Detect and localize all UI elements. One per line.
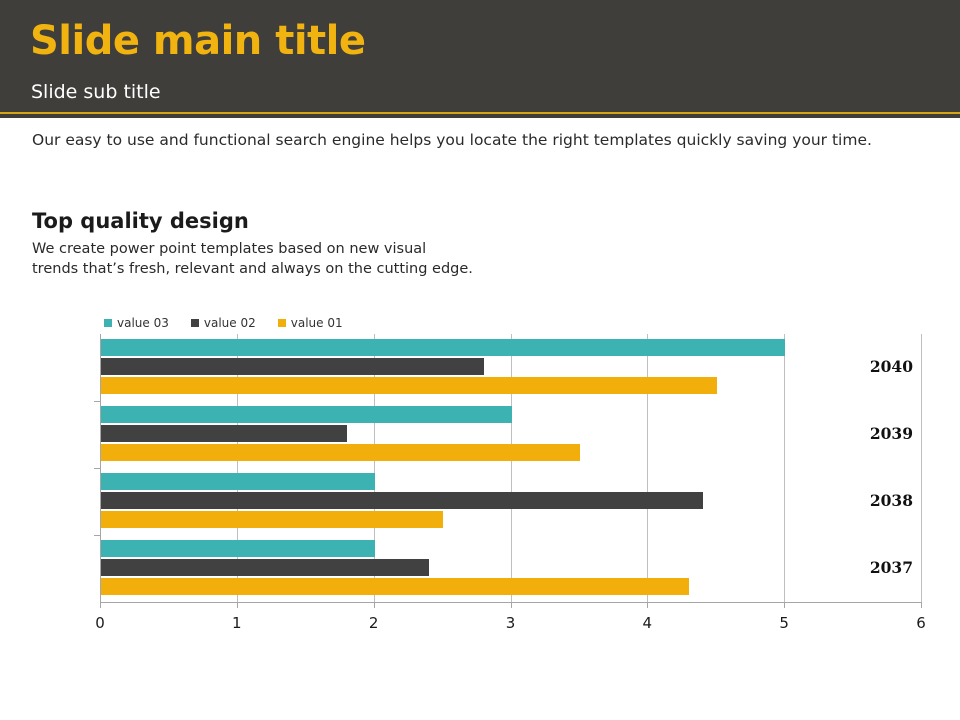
bar-value-03 xyxy=(101,473,375,490)
gridline xyxy=(647,334,648,602)
bar-value-01 xyxy=(101,511,443,528)
bar-value-02 xyxy=(101,492,703,509)
y-axis-category-label: 2039 xyxy=(870,424,913,443)
bar-value-03 xyxy=(101,540,375,557)
y-axis-category-label: 2040 xyxy=(870,357,913,376)
x-axis-tick xyxy=(647,602,648,608)
page-title: Slide main title xyxy=(30,18,366,64)
bar-value-01 xyxy=(101,444,580,461)
legend-label: value 01 xyxy=(291,317,343,329)
x-axis-tick-label: 5 xyxy=(779,614,789,632)
bar-value-02 xyxy=(101,425,347,442)
legend-swatch-icon xyxy=(278,319,286,327)
bar-chart: value 03value 02value 01 012345620402039… xyxy=(0,300,960,660)
x-axis-tick-label: 2 xyxy=(369,614,379,632)
y-axis-tick xyxy=(94,401,100,402)
gridline xyxy=(921,334,922,602)
x-axis-tick-label: 1 xyxy=(232,614,242,632)
bar-value-03 xyxy=(101,406,512,423)
gridline xyxy=(784,334,785,602)
legend-item[interactable]: value 02 xyxy=(191,317,256,329)
y-axis-tick xyxy=(94,535,100,536)
section-heading: Top quality design xyxy=(32,208,249,234)
bar-value-02 xyxy=(101,559,429,576)
x-axis-tick-label: 0 xyxy=(95,614,105,632)
x-axis-tick xyxy=(784,602,785,608)
x-axis-tick xyxy=(237,602,238,608)
legend-item[interactable]: value 03 xyxy=(104,317,169,329)
section-description: We create power point templates based on… xyxy=(32,240,473,279)
intro-paragraph: Our easy to use and functional search en… xyxy=(32,130,932,150)
y-axis-tick xyxy=(94,468,100,469)
y-axis-category-label: 2038 xyxy=(870,491,913,510)
x-axis-tick-label: 4 xyxy=(643,614,653,632)
legend-label: value 02 xyxy=(204,317,256,329)
x-axis-tick xyxy=(921,602,922,608)
bar-value-01 xyxy=(101,377,717,394)
legend-swatch-icon xyxy=(191,319,199,327)
legend-item[interactable]: value 01 xyxy=(278,317,343,329)
legend-swatch-icon xyxy=(104,319,112,327)
x-axis-tick-label: 3 xyxy=(506,614,516,632)
gridline xyxy=(511,334,512,602)
x-axis-tick xyxy=(511,602,512,608)
bar-value-02 xyxy=(101,358,484,375)
x-axis-tick xyxy=(100,602,101,608)
x-axis-tick-label: 6 xyxy=(916,614,926,632)
header-divider xyxy=(0,112,960,114)
bar-value-01 xyxy=(101,578,689,595)
chart-legend: value 03value 02value 01 xyxy=(104,315,343,331)
y-axis-category-label: 2037 xyxy=(870,558,913,577)
bar-value-03 xyxy=(101,339,785,356)
chart-plot-area: 01234562040203920382037 xyxy=(100,334,921,602)
x-axis-tick xyxy=(374,602,375,608)
slide-header: Slide main title Slide sub title xyxy=(0,0,960,118)
legend-label: value 03 xyxy=(117,317,169,329)
page-subtitle: Slide sub title xyxy=(31,80,161,104)
